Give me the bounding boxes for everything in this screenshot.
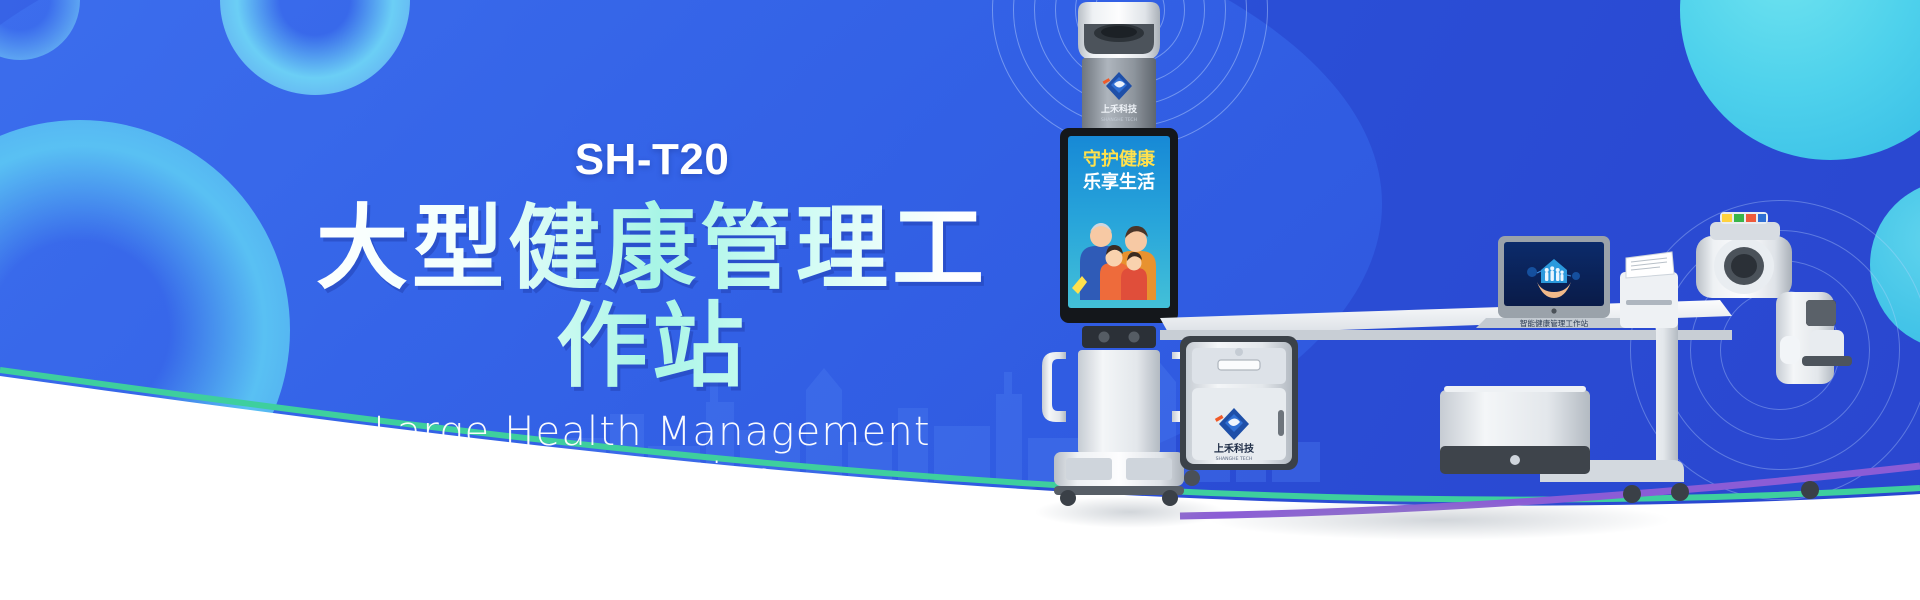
accessory-holder bbox=[1776, 292, 1852, 499]
svg-text:SHANGHE TECH: SHANGHE TECH bbox=[1216, 456, 1253, 462]
svg-text:上禾科技: 上禾科技 bbox=[1101, 103, 1138, 115]
svg-text:智能健康管理工作站: 智能健康管理工作站 bbox=[1520, 318, 1589, 328]
product-illustration: 上禾科技 SHANGHE TECH 守护健康 乐享生活 bbox=[1020, 0, 1920, 600]
svg-text:守护健康: 守护健康 bbox=[1083, 148, 1156, 170]
workstation-desk: 上禾科技 SHANGHE TECH bbox=[1160, 212, 1852, 503]
blood-pressure-monitor bbox=[1696, 212, 1792, 298]
model-code: SH-T20 bbox=[272, 138, 1032, 182]
svg-text:SHANGHE TECH: SHANGHE TECH bbox=[1101, 117, 1137, 123]
page-title: 大型健康管理工作站 bbox=[272, 200, 1032, 395]
svg-text:上禾科技: 上禾科技 bbox=[1214, 442, 1255, 455]
laptop-display: 智能健康管理工作站 bbox=[1476, 236, 1632, 328]
banner-copy-block: SH-T20 大型健康管理工作站 Large Health Management… bbox=[272, 138, 1032, 501]
svg-text:乐享生活: 乐享生活 bbox=[1083, 171, 1155, 193]
receipt-printer bbox=[1620, 252, 1678, 328]
health-kiosk-device: 上禾科技 SHANGHE TECH 守护健康 乐享生活 bbox=[1042, 2, 1196, 506]
product-hero-banner: SH-T20 大型健康管理工作站 Large Health Management… bbox=[0, 0, 1920, 600]
page-subtitle: Large Health Management workstation bbox=[272, 409, 1032, 501]
